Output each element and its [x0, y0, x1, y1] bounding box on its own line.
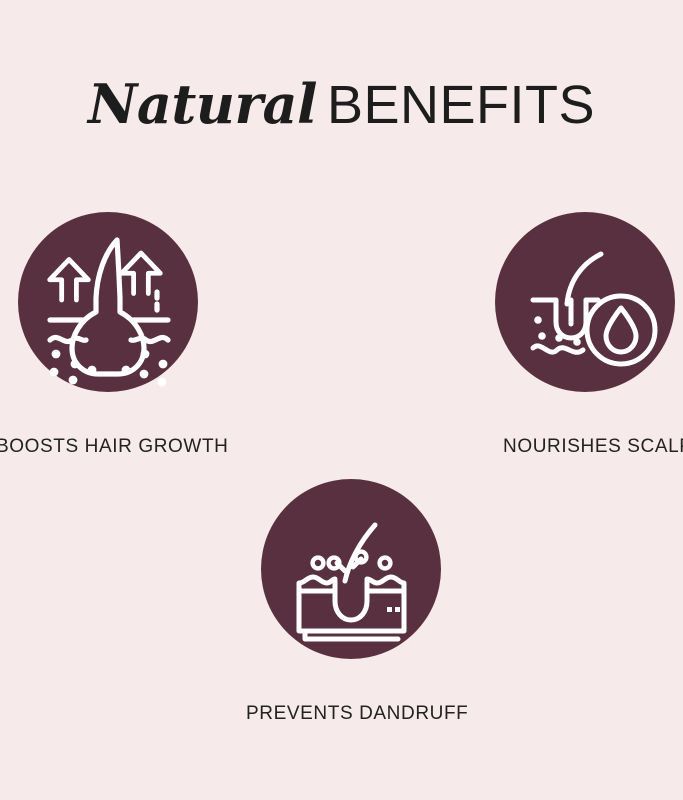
- benefit-icon-circle: [495, 212, 675, 392]
- follicle-dots: [50, 350, 168, 387]
- page-title-script-word: Natural: [88, 72, 317, 136]
- page-title-sans-word: BENEFITS: [327, 75, 595, 135]
- hair-follicle-dandruff-flakes-icon: [261, 479, 441, 659]
- benefit-item-prevents-dandruff: PREVENTS DANDRUFF: [261, 479, 441, 659]
- benefit-icon-circle: [261, 479, 441, 659]
- benefit-label: BOOSTS HAIR GROWTH: [0, 436, 228, 458]
- hair-follicle-droplet-icon: [495, 212, 675, 392]
- benefit-item-boosts-hair-growth: BOOSTS HAIR GROWTH: [18, 212, 198, 392]
- benefit-label: NOURISHES SCALP: [503, 436, 683, 458]
- benefit-label: PREVENTS DANDRUFF: [246, 703, 468, 725]
- page-title: NaturalBENEFITS: [0, 72, 683, 136]
- hair-follicle-growth-arrows-icon: [18, 212, 198, 392]
- benefit-icon-circle: [18, 212, 198, 392]
- benefit-item-nourishes-scalp: NOURISHES SCALP: [495, 212, 675, 392]
- benefits-infographic: NaturalBENEFITS: [0, 0, 683, 800]
